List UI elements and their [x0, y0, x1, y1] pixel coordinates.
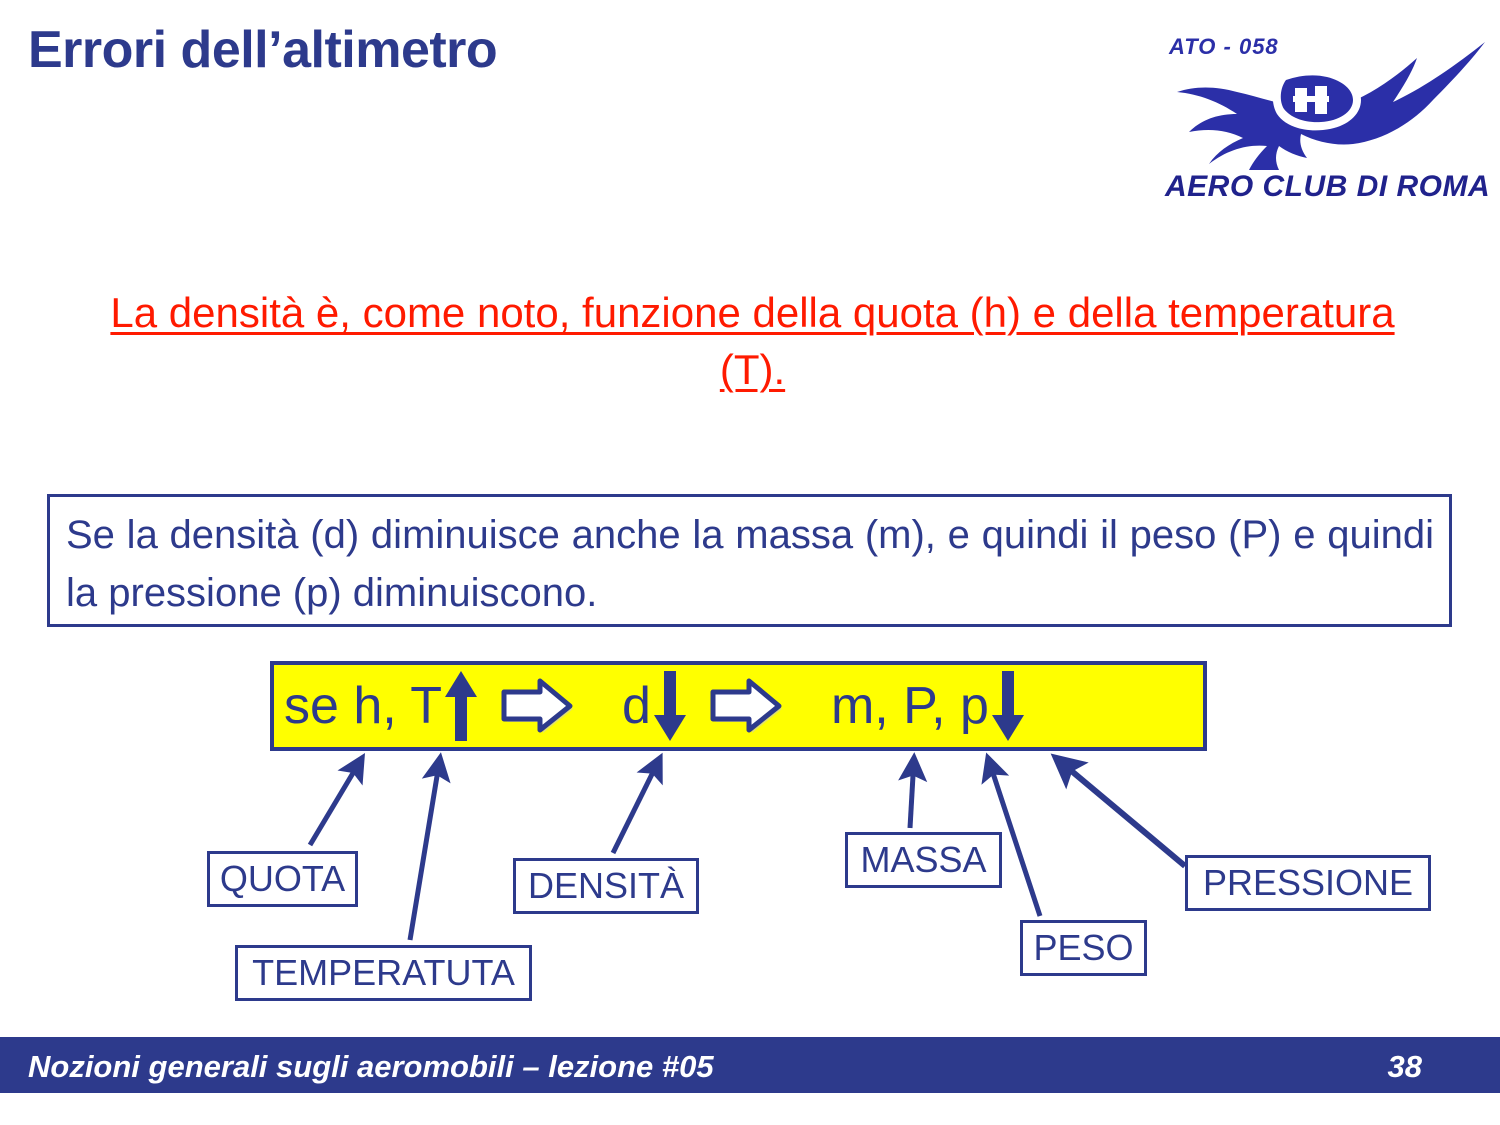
callout-massa-label: MASSA	[860, 839, 986, 881]
arrow-right-block-icon	[709, 678, 783, 734]
callout-quota-label: QUOTA	[220, 858, 345, 900]
arrow-right-block-icon	[500, 678, 574, 734]
red-statement-text: La densità è, come noto, funzione della …	[110, 284, 1395, 398]
callout-densita-label: DENSITÀ	[528, 865, 684, 907]
aero-club-logo: ATO - 058 AERO CLUB DI ROMA	[1155, 18, 1485, 218]
footer-page-number: 38	[1388, 1049, 1422, 1085]
callout-densita: DENSITÀ	[513, 858, 699, 914]
formula-token-d: d	[622, 680, 651, 732]
connector-temperatura	[410, 758, 440, 940]
eagle-icon	[1155, 40, 1485, 170]
callout-pressione: PRESSIONE	[1185, 855, 1431, 911]
connector-densita	[613, 758, 660, 853]
footer-title: Nozioni generali sugli aeromobili – lezi…	[28, 1049, 714, 1085]
formula-token-se-h-T: se h, T	[284, 680, 442, 732]
callout-peso: PESO	[1020, 920, 1147, 976]
callout-quota: QUOTA	[207, 851, 358, 907]
formula-band: se h, T d m, P, p	[270, 661, 1207, 751]
callout-massa: MASSA	[845, 832, 1002, 888]
arrow-up-icon	[444, 669, 478, 743]
logo-club-name: AERO CLUB DI ROMA	[1165, 170, 1480, 204]
footer-bar: Nozioni generali sugli aeromobili – lezi…	[0, 1037, 1500, 1093]
callout-temperatura: TEMPERATUTA	[235, 945, 532, 1001]
slide-canvas: Errori dell’altimetro ATO - 058 AERO CLU…	[0, 0, 1500, 1125]
callout-temperatura-label: TEMPERATUTA	[252, 952, 515, 994]
formula-token-m-P-p: m, P, p	[831, 680, 989, 732]
connector-massa	[910, 758, 914, 828]
callout-peso-label: PESO	[1033, 927, 1133, 969]
page-title: Errori dell’altimetro	[28, 20, 497, 80]
callout-pressione-label: PRESSIONE	[1203, 862, 1413, 904]
arrow-down-icon	[653, 669, 687, 743]
connector-pressione	[1056, 758, 1185, 866]
statement-box-text: Se la densità (d) diminuisce anche la ma…	[66, 506, 1434, 622]
connector-quota	[310, 758, 362, 845]
arrow-down-icon	[991, 669, 1025, 743]
statement-box: Se la densità (d) diminuisce anche la ma…	[47, 494, 1452, 627]
